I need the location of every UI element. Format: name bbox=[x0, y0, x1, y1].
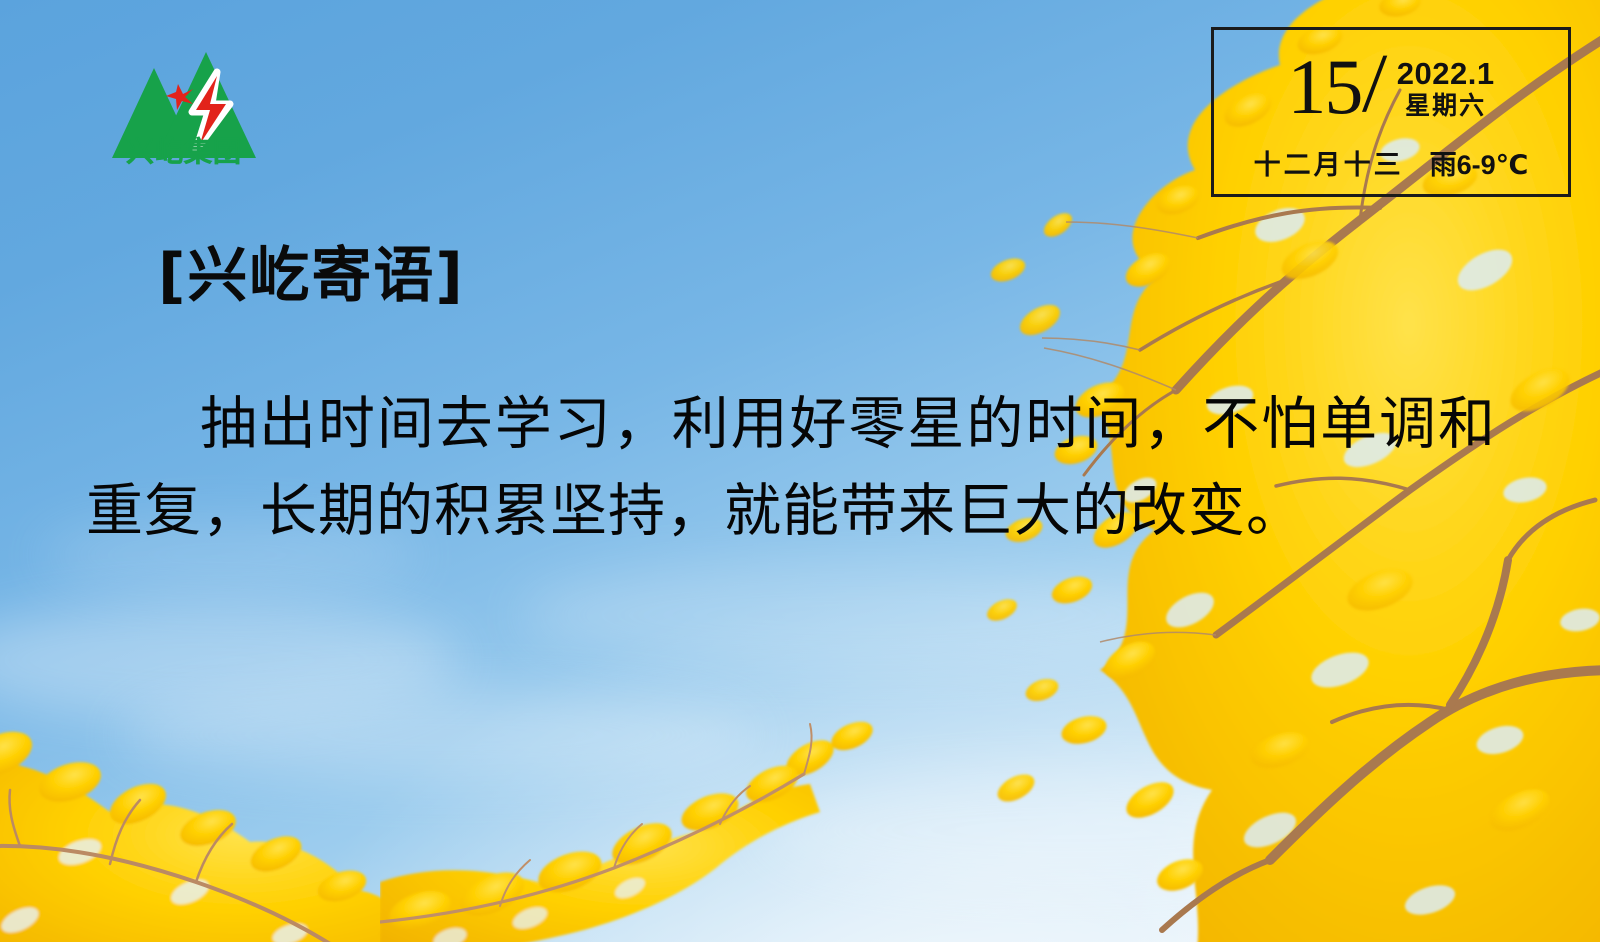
date-card-top-row: 15 / 2022.1 星期六 bbox=[1214, 36, 1568, 144]
date-separator: / bbox=[1362, 42, 1388, 126]
date-weather-card: 15 / 2022.1 星期六 十二月十三 雨6-9℃ bbox=[1211, 27, 1571, 197]
company-name: 兴屹集团 bbox=[100, 138, 268, 166]
quote-body-text: 抽出时间去学习，利用好零星的时间，不怕单调和重复，长期的积累坚持，就能带来巨大的… bbox=[86, 382, 1496, 555]
ginkgo-branch-left-image bbox=[0, 642, 520, 942]
weekday: 星期六 bbox=[1405, 92, 1486, 121]
cloud-wisp bbox=[0, 600, 460, 720]
cloud-wisp bbox=[520, 560, 1220, 670]
page-title: [兴屹寄语] bbox=[158, 246, 465, 306]
weather-info: 雨6-9℃ bbox=[1430, 143, 1529, 182]
lunar-date: 十二月十三 bbox=[1254, 143, 1404, 182]
date-card-bottom-row: 十二月十三 雨6-9℃ bbox=[1214, 143, 1568, 182]
poster-canvas: 兴屹集团 15 / 2022.1 星期六 十二月十三 雨6-9℃ [兴屹寄语] … bbox=[0, 0, 1600, 942]
year-month: 2022.1 bbox=[1397, 58, 1495, 91]
cloud-wisp bbox=[120, 690, 760, 780]
year-weekday-block: 2022.1 星期六 bbox=[1397, 58, 1495, 120]
day-number: 15 bbox=[1287, 48, 1361, 126]
cloud-wisp bbox=[760, 770, 1380, 890]
ginkgo-branch-middle-image bbox=[380, 692, 1000, 942]
